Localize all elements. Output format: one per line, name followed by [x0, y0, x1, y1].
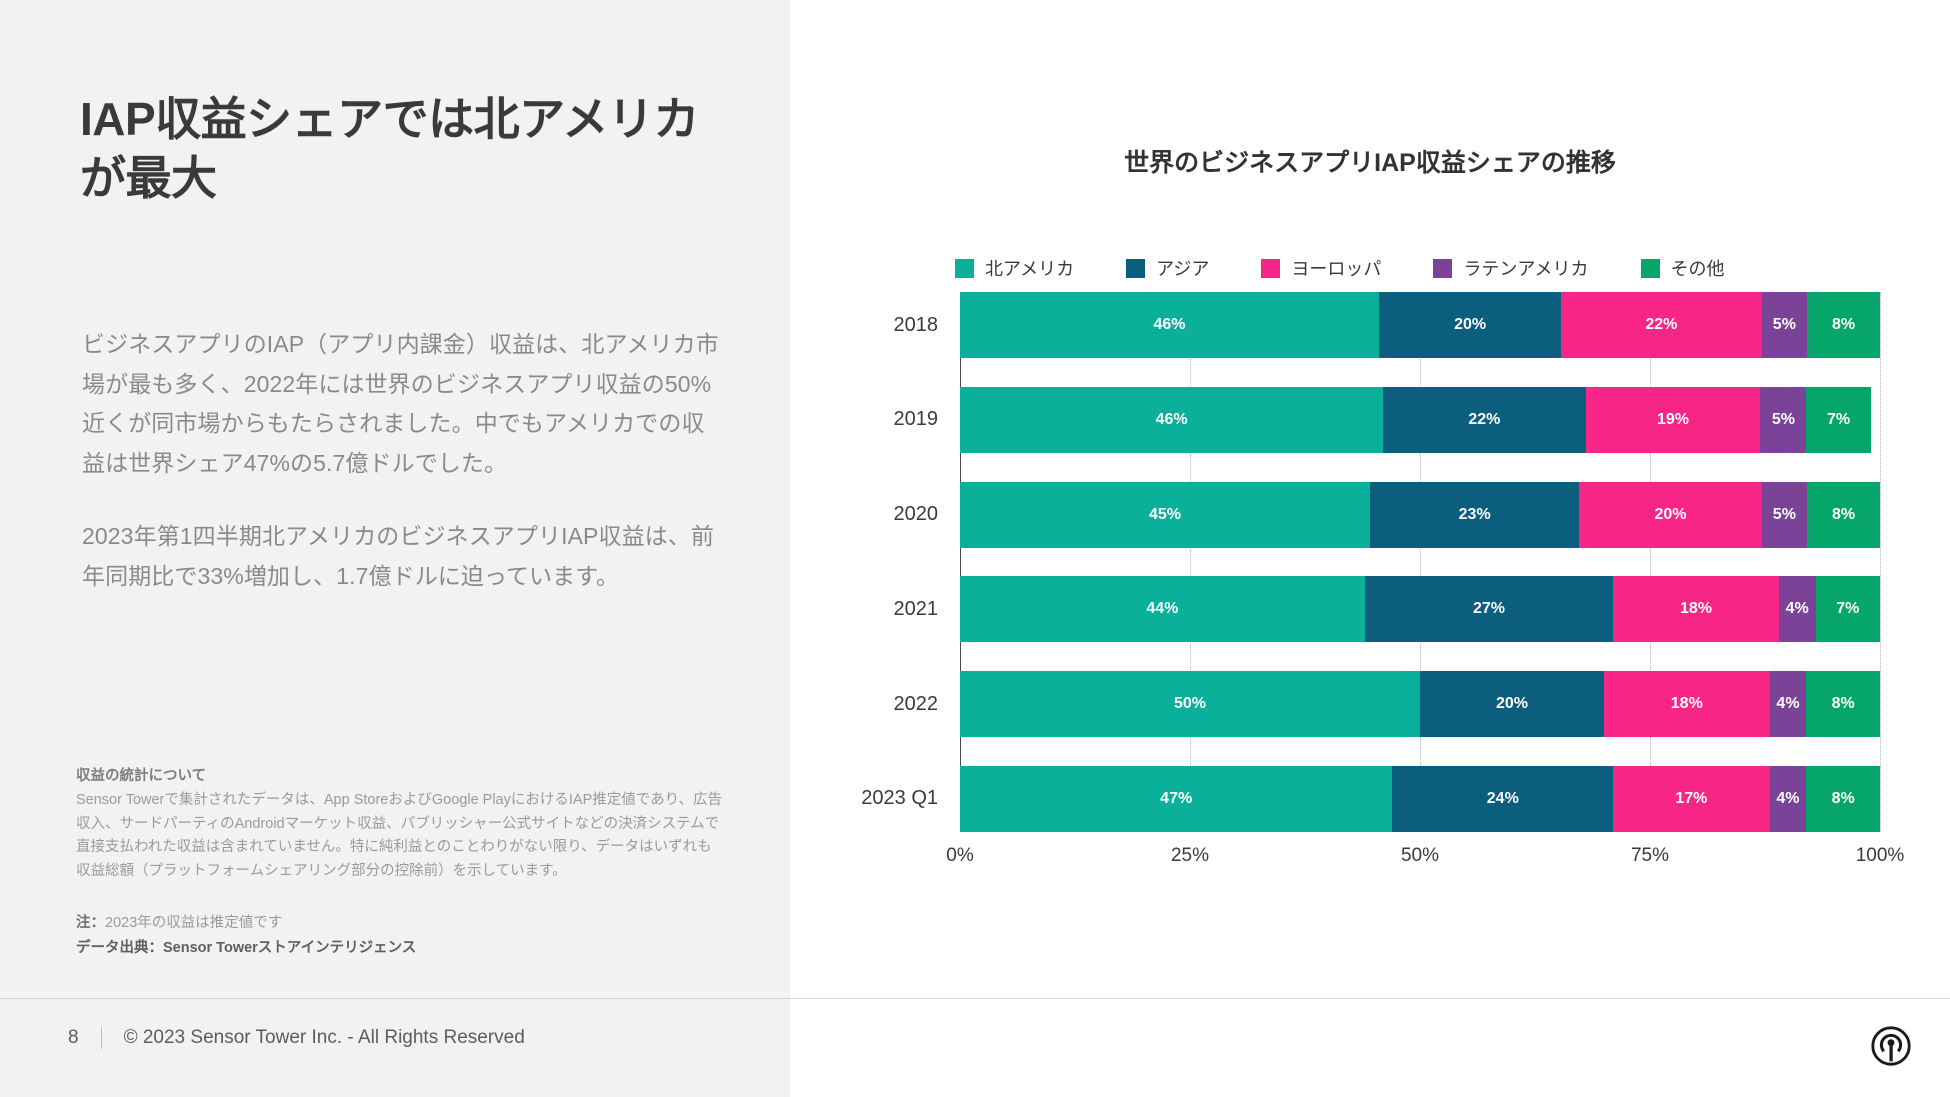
legend-label: その他 [1671, 255, 1725, 281]
chart-bar-segment[interactable]: 27% [1365, 576, 1613, 642]
chart-bar-segment[interactable]: 20% [1379, 292, 1561, 358]
slide: IAP収益シェアでは北アメリカが最大 ビジネスアプリのIAP（アプリ内課金）収益… [0, 0, 1950, 1097]
chart-bar-segment[interactable]: 22% [1561, 292, 1761, 358]
chart-category-label: 2023 Q1 [861, 766, 938, 832]
chart-category-label: 2020 [894, 482, 939, 548]
chart-bar-segment[interactable]: 22% [1383, 387, 1585, 453]
chart-bar-segment[interactable]: 47% [960, 766, 1392, 832]
chart-bar-segment[interactable]: 4% [1770, 766, 1807, 832]
chart-bar-segment[interactable]: 8% [1807, 482, 1880, 548]
chart-x-tick-label: 100% [1856, 845, 1905, 867]
chart-category-label: 2021 [894, 576, 939, 642]
chart-bar-row: 202045%23%20%5%8% [960, 482, 1880, 548]
chart-bar-segment[interactable]: 8% [1807, 292, 1880, 358]
chart-x-tick-label: 0% [946, 845, 973, 867]
chart-bar-segment[interactable]: 18% [1604, 671, 1770, 737]
legend-swatch-icon [1641, 259, 1660, 278]
legend-swatch-icon [955, 259, 974, 278]
chart-bar-segment[interactable]: 4% [1770, 671, 1807, 737]
chart-category-label: 2019 [894, 387, 939, 453]
sensor-tower-logo-icon [1868, 1023, 1914, 1069]
chart-bar-segment[interactable]: 19% [1586, 387, 1761, 453]
legend-swatch-icon [1433, 259, 1452, 278]
legend-swatch-icon [1126, 259, 1145, 278]
footnote-body: Sensor Towerで集計されたデータは、App StoreおよびGoogl… [76, 789, 726, 883]
paragraph-2: 2023年第1四半期北アメリカのビジネスアプリIAP収益は、前年同期比で33%増… [82, 517, 727, 596]
legend-item-1[interactable]: 北アメリカ [955, 255, 1074, 281]
chart-bar-segment[interactable]: 5% [1762, 482, 1808, 548]
legend-label: ラテンアメリカ [1463, 255, 1588, 281]
chart-bar-rows: 201846%20%22%5%8%201946%22%19%5%7%202045… [960, 292, 1880, 832]
footnote-note: 注：2023年の収益は推定値です [76, 911, 726, 936]
chart-bar-segment[interactable]: 46% [960, 387, 1383, 453]
chart-bar-segment[interactable]: 23% [1370, 482, 1580, 548]
chart-bar-row: 202144%27%18%4%7% [960, 576, 1880, 642]
left-content-panel: IAP収益シェアでは北アメリカが最大 ビジネスアプリのIAP（アプリ内課金）収益… [0, 0, 790, 1097]
chart-bar-segment[interactable]: 5% [1760, 387, 1806, 453]
chart-x-tick-label: 25% [1171, 845, 1209, 867]
legend-label: ヨーロッパ [1291, 255, 1381, 281]
legend-item-3[interactable]: ヨーロッパ [1261, 255, 1381, 281]
chart-bar-segment[interactable]: 20% [1579, 482, 1761, 548]
legend-item-4[interactable]: ラテンアメリカ [1433, 255, 1588, 281]
chart-bar-row: 201946%22%19%5%7% [960, 387, 1880, 453]
footer: 8 © 2023 Sensor Tower Inc. - All Rights … [68, 1027, 525, 1049]
page-number: 8 [68, 1027, 79, 1049]
chart-bar-segment[interactable]: 4% [1779, 576, 1816, 642]
chart-bar-segment[interactable]: 7% [1806, 387, 1870, 453]
chart-bar-row: 201846%20%22%5%8% [960, 292, 1880, 358]
legend-item-2[interactable]: アジア [1126, 255, 1209, 281]
chart-bar-segment[interactable]: 44% [960, 576, 1365, 642]
footnote-heading: 収益の統計について [76, 765, 726, 788]
page-title: IAP収益シェアでは北アメリカが最大 [80, 90, 730, 208]
note-label: 注： [76, 915, 105, 931]
chart-x-tick-label: 75% [1631, 845, 1669, 867]
chart-category-label: 2022 [894, 671, 939, 737]
chart-bar-segment[interactable]: 17% [1613, 766, 1769, 832]
body-text-block: ビジネスアプリのIAP（アプリ内課金）収益は、北アメリカ市場が最も多く、2022… [82, 325, 727, 596]
gridline [1880, 292, 1881, 832]
footnote-source: データ出典：Sensor Towerストアインテリジェンス [76, 936, 726, 961]
chart-x-axis-labels: 0%25%50%75%100% [960, 845, 1880, 875]
chart-bar-row: 2023 Q147%24%17%4%8% [960, 766, 1880, 832]
legend-swatch-icon [1261, 259, 1280, 278]
legend-item-5[interactable]: その他 [1641, 255, 1725, 281]
chart-panel: 世界のビジネスアプリIAP収益シェアの推移 北アメリカアジアヨーロッパラテンアメ… [790, 0, 1950, 998]
paragraph-1: ビジネスアプリのIAP（アプリ内課金）収益は、北アメリカ市場が最も多く、2022… [82, 325, 727, 483]
chart-title: 世界のビジネスアプリIAP収益シェアの推移 [790, 143, 1950, 179]
footnote-block: 収益の統計について Sensor Towerで集計されたデータは、App Sto… [76, 765, 726, 960]
chart-bar-segment[interactable]: 50% [960, 671, 1420, 737]
chart-bar-segment[interactable]: 46% [960, 292, 1379, 358]
legend-label: 北アメリカ [985, 255, 1074, 281]
chart-bar-segment[interactable]: 18% [1613, 576, 1779, 642]
chart-category-label: 2018 [894, 292, 939, 358]
chart-bar-segment[interactable]: 24% [1392, 766, 1613, 832]
legend-label: アジア [1156, 255, 1209, 281]
chart-bar-row: 202250%20%18%4%8% [960, 671, 1880, 737]
footer-separator [101, 1027, 102, 1049]
copyright-text: © 2023 Sensor Tower Inc. - All Rights Re… [124, 1027, 525, 1049]
chart-bar-segment[interactable]: 8% [1806, 766, 1880, 832]
chart-x-tick-label: 50% [1401, 845, 1439, 867]
chart-legend: 北アメリカアジアヨーロッパラテンアメリカその他 [955, 255, 1777, 281]
note-text: 2023年の収益は推定値です [105, 915, 282, 931]
chart-bar-segment[interactable]: 5% [1762, 292, 1808, 358]
chart-bar-segment[interactable]: 45% [960, 482, 1370, 548]
chart-plot-area: 201846%20%22%5%8%201946%22%19%5%7%202045… [960, 292, 1880, 832]
footer-divider-left [0, 998, 790, 999]
chart-bar-segment[interactable]: 7% [1816, 576, 1880, 642]
chart-bar-segment[interactable]: 8% [1806, 671, 1880, 737]
chart-bar-segment[interactable]: 20% [1420, 671, 1604, 737]
